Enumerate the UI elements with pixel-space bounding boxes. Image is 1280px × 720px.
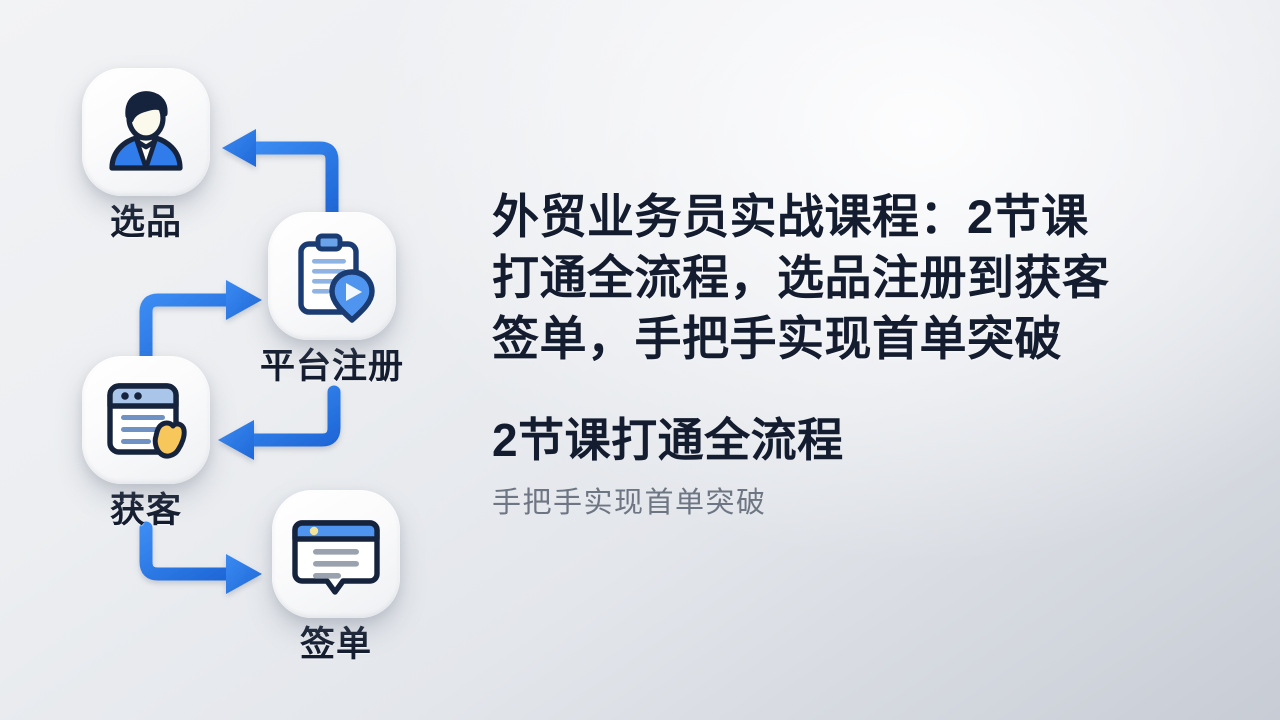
- diagram-node-qiandan[interactable]: 签单: [272, 490, 400, 664]
- clipboard-location-icon: [284, 228, 380, 324]
- diagram-node-huoke[interactable]: 获客: [82, 356, 210, 530]
- workflow-diagram: 选品 平台注册: [0, 0, 470, 720]
- speech-bubble-document-icon: [288, 506, 384, 602]
- subheadline: 2节课打通全流程: [492, 413, 1252, 468]
- node-tile: [272, 490, 400, 618]
- headline-line-1: 外贸业务员实战课程：2节课: [492, 186, 1252, 247]
- person-avatar-icon: [98, 84, 194, 180]
- caption-text: 手把手实现首单突破: [492, 486, 1252, 521]
- node-label-huoke: 获客: [82, 492, 210, 530]
- browser-click-icon: [98, 372, 194, 468]
- arrow-pingtai-to-huoke: [218, 392, 334, 460]
- headline-line-3: 签单，手把手实现首单突破: [492, 308, 1252, 369]
- node-label-qiandan: 签单: [272, 626, 400, 664]
- node-tile: [268, 212, 396, 340]
- arrow-pingtai-to-xuanpin: [222, 129, 332, 212]
- headline-line-2: 打通全流程，选品注册到获客: [492, 247, 1252, 308]
- node-label-xuanpin: 选品: [82, 204, 210, 242]
- arrow-huoke-to-qiandan: [146, 528, 262, 594]
- poster-canvas: 选品 平台注册: [0, 0, 1280, 720]
- node-tile: [82, 356, 210, 484]
- copy-block: 外贸业务员实战课程：2节课 打通全流程，选品注册到获客 签单，手把手实现首单突破…: [492, 186, 1252, 521]
- diagram-node-xuanpin[interactable]: 选品: [82, 68, 210, 242]
- headline: 外贸业务员实战课程：2节课 打通全流程，选品注册到获客 签单，手把手实现首单突破: [492, 186, 1252, 369]
- node-label-pingtai: 平台注册: [228, 348, 436, 386]
- diagram-node-pingtai[interactable]: 平台注册: [268, 212, 396, 386]
- arrow-huoke-to-pingtai: [146, 280, 262, 356]
- node-tile: [82, 68, 210, 196]
